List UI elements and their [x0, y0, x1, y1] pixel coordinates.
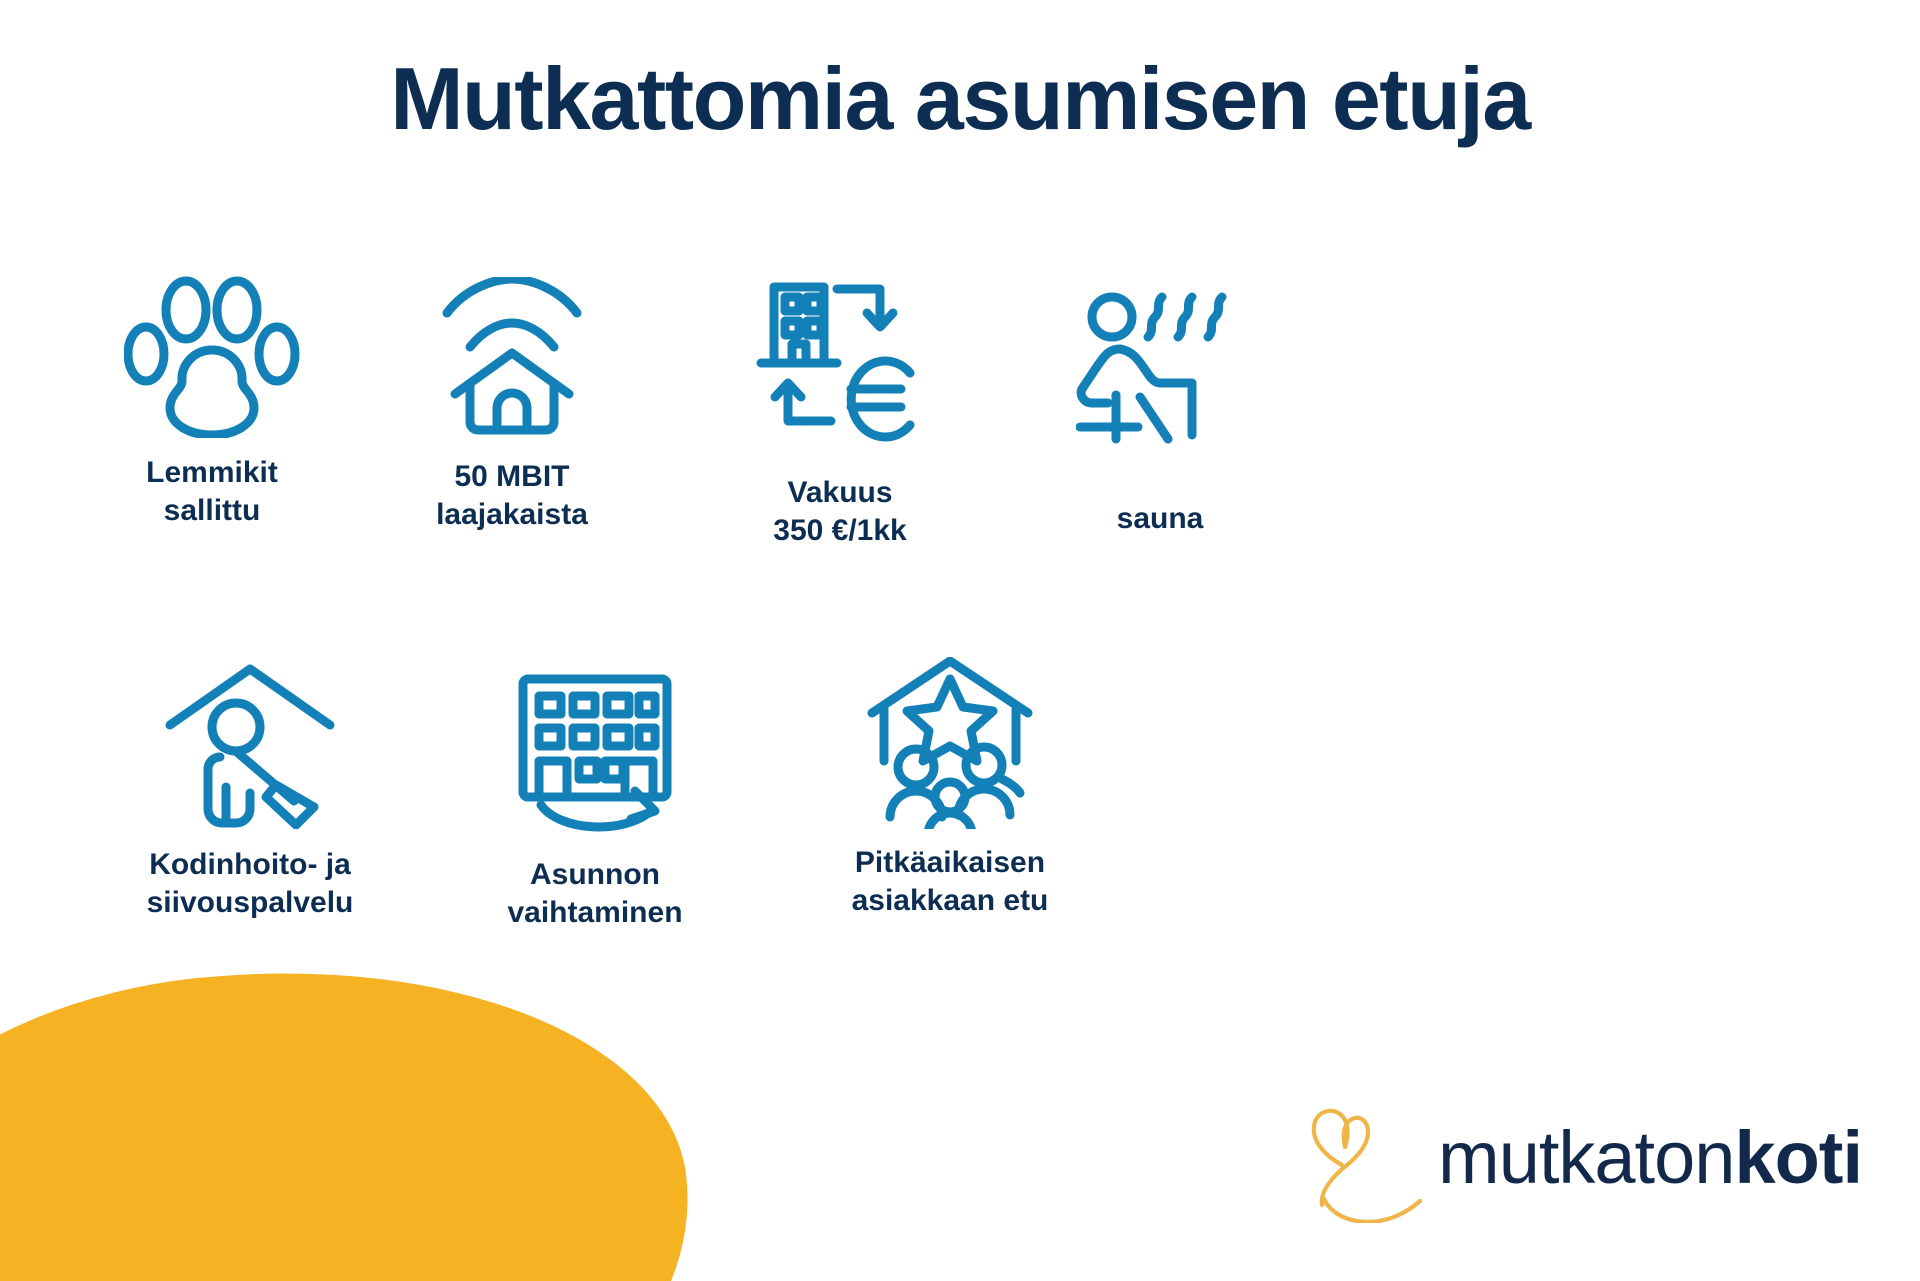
feature-label: Pitkäaikaisen asiakkaan etu [852, 844, 1049, 921]
logo-word-bold: koti [1734, 1116, 1862, 1199]
feature-item-apartment-swap: Asunnon vaihtaminen [445, 660, 745, 933]
feature-label: 50 MBIT laajakaista [436, 458, 588, 535]
logo-word-light: mutkaton [1438, 1116, 1734, 1199]
feature-label: Kodinhoito- ja siivouspalvelu [147, 846, 354, 923]
wifi-house-icon [417, 262, 607, 452]
infographic-canvas: Mutkattomia asumisen etuja Lemmikit sall… [0, 0, 1920, 1281]
feature-item-loyalty: Pitkäaikaisen asiakkaan etu [800, 648, 1100, 921]
feature-item-sauna: sauna [1010, 272, 1310, 538]
feature-label: Vakuus 350 €/1kk [773, 474, 906, 551]
feature-grid: Lemmikit sallittu 50 MBIT laajakaista [0, 0, 1920, 1281]
feature-item-cleaning: Kodinhoito- ja siivouspalvelu [100, 650, 400, 923]
cleaning-person-broom-icon [155, 650, 345, 840]
feature-item-broadband: 50 MBIT laajakaista [362, 262, 662, 535]
paw-print-icon [117, 258, 307, 448]
feature-item-deposit: Vakuus 350 €/1kk [690, 262, 990, 551]
sauna-person-steam-icon [1065, 272, 1255, 462]
house-star-family-icon [855, 648, 1045, 838]
feature-label: sauna [1117, 500, 1204, 538]
heart-swoosh-icon [1304, 1093, 1432, 1223]
logo-wordmark: mutkatonkoti [1438, 1121, 1862, 1195]
feature-label: Lemmikit sallittu [146, 454, 278, 531]
building-euro-exchange-icon [745, 262, 935, 452]
feature-label: Asunnon vaihtaminen [507, 856, 682, 933]
brand-logo[interactable]: mutkatonkoti [1304, 1093, 1862, 1223]
apartment-swap-icon [500, 660, 690, 850]
feature-item-pets: Lemmikit sallittu [62, 258, 362, 531]
